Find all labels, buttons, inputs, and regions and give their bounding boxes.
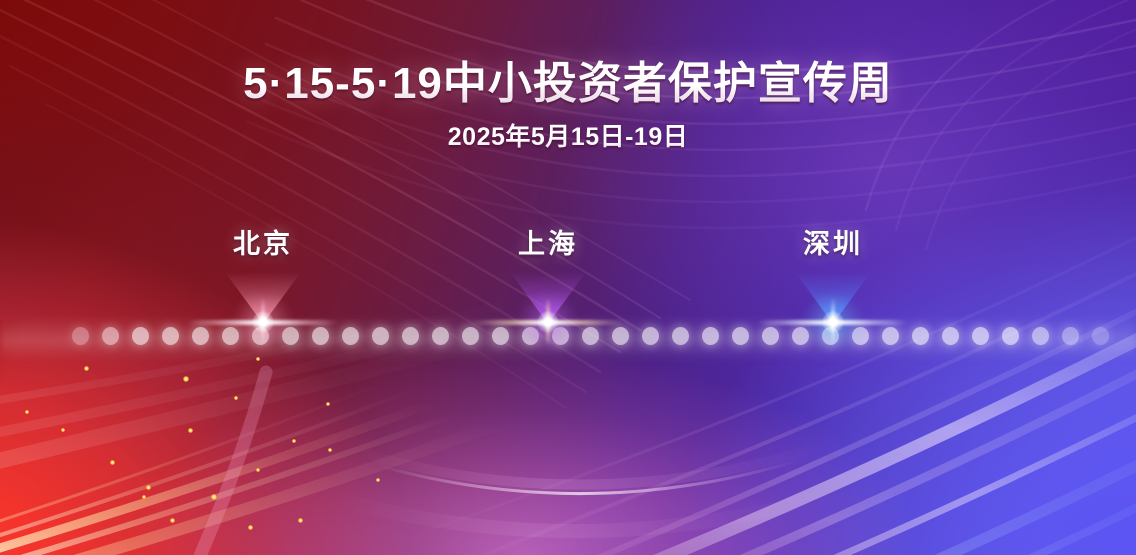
dot-row-item: [732, 327, 749, 345]
sparkle-particle: [328, 448, 332, 452]
dot-row-glow: [0, 316, 1136, 360]
sparkle-particle: [146, 485, 151, 490]
sparkle-particle: [188, 428, 193, 433]
dot-row-item: [912, 327, 929, 345]
sparkle-particle: [61, 428, 65, 432]
light-beam-icon: [795, 272, 871, 324]
city-label-shanghai[interactable]: 上海: [448, 228, 648, 260]
dot-row-item: [612, 327, 629, 345]
sparkle-particle: [376, 478, 380, 482]
sparkle-particle: [326, 402, 330, 406]
dot-row-item: [402, 327, 419, 345]
dot-row-item: [822, 327, 839, 345]
page-title: 5·15-5·19中小投资者保护宣传周: [0, 58, 1136, 110]
title-block: 5·15-5·19中小投资者保护宣传周 2025年5月15日-19日: [0, 58, 1136, 152]
dot-row-item: [282, 327, 299, 345]
sparkle-particle: [170, 518, 175, 523]
sparkle-particle: [234, 396, 238, 400]
page-subtitle: 2025年5月15日-19日: [0, 122, 1136, 152]
dot-row-item: [792, 327, 809, 345]
dot-row-item: [342, 327, 359, 345]
sparkle-particle: [298, 518, 303, 523]
dot-row-item: [1062, 327, 1079, 345]
dot-row-item: [192, 327, 209, 345]
dot-row-item: [102, 327, 119, 345]
dot-row-item: [672, 327, 689, 345]
dot-row-item: [312, 327, 329, 345]
dot-row-item: [762, 327, 779, 345]
dot-row-item: [552, 327, 569, 345]
sparkle-particle: [183, 376, 189, 382]
dot-row-item: [942, 327, 959, 345]
dot-row-item: [252, 327, 269, 345]
dot-row-item: [1002, 327, 1019, 345]
dot-row-item: [222, 327, 239, 345]
dot-row-item: [492, 327, 509, 345]
dot-row-item: [702, 327, 719, 345]
sparkle-particle: [110, 460, 115, 465]
promo-banner: 5·15-5·19中小投资者保护宣传周 2025年5月15日-19日 北京上海深…: [0, 0, 1136, 555]
sparkle-particle: [142, 495, 146, 499]
dot-row-item: [1032, 327, 1049, 345]
light-beam-icon: [225, 272, 301, 324]
sparkle-particle: [84, 366, 89, 371]
sparkle-particle: [256, 468, 260, 472]
sparkle-particle: [211, 494, 217, 500]
city-label-shenzhen[interactable]: 深圳: [733, 228, 933, 260]
sparkle-particle: [25, 410, 29, 414]
dot-row-item: [72, 327, 89, 345]
light-beam-icon: [510, 272, 586, 324]
dot-row-item: [132, 327, 149, 345]
dot-row-item: [522, 327, 539, 345]
dot-row-item: [462, 327, 479, 345]
dot-row: [0, 327, 1136, 347]
dot-row-item: [882, 327, 899, 345]
dot-row-item: [642, 327, 659, 345]
dot-row-item: [432, 327, 449, 345]
dot-row-item: [162, 327, 179, 345]
dot-row-item: [582, 327, 599, 345]
dot-row-item: [1092, 327, 1109, 345]
dot-row-item: [372, 327, 389, 345]
dot-row-item: [972, 327, 989, 345]
dot-row-item: [852, 327, 869, 345]
sparkle-particle: [292, 439, 296, 443]
sparkle-particle: [248, 525, 253, 530]
city-label-beijing[interactable]: 北京: [163, 228, 363, 260]
background-dark-diagonal-band: [0, 222, 992, 555]
sparkle-particle: [256, 357, 260, 361]
